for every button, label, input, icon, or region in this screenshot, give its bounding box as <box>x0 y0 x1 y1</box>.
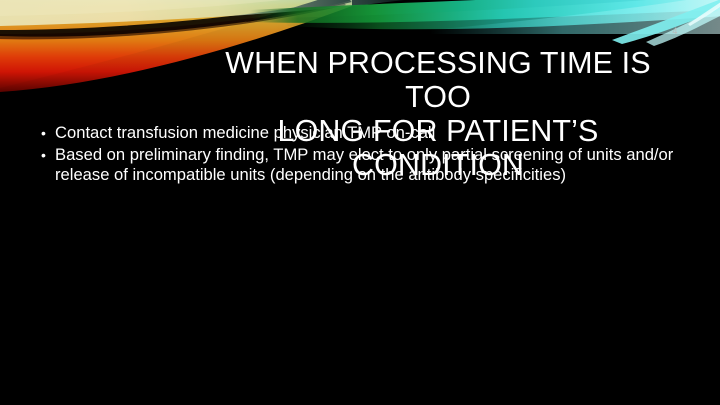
bullet-marker-icon: • <box>34 145 55 166</box>
bullet-text: Contact transfusion medicine physician T… <box>55 123 694 144</box>
bullet-marker-icon: • <box>34 123 55 144</box>
slide-body: • Contact transfusion medicine physician… <box>34 123 694 187</box>
bullet-item: • Contact transfusion medicine physician… <box>34 123 694 144</box>
slide-number: 4 <box>664 26 686 36</box>
slide: 4 WHEN PROCESSING TIME IS TOO LONG FOR P… <box>0 0 720 405</box>
bullet-text: Based on preliminary finding, TMP may el… <box>55 145 694 186</box>
bullet-item: • Based on preliminary finding, TMP may … <box>34 145 694 186</box>
